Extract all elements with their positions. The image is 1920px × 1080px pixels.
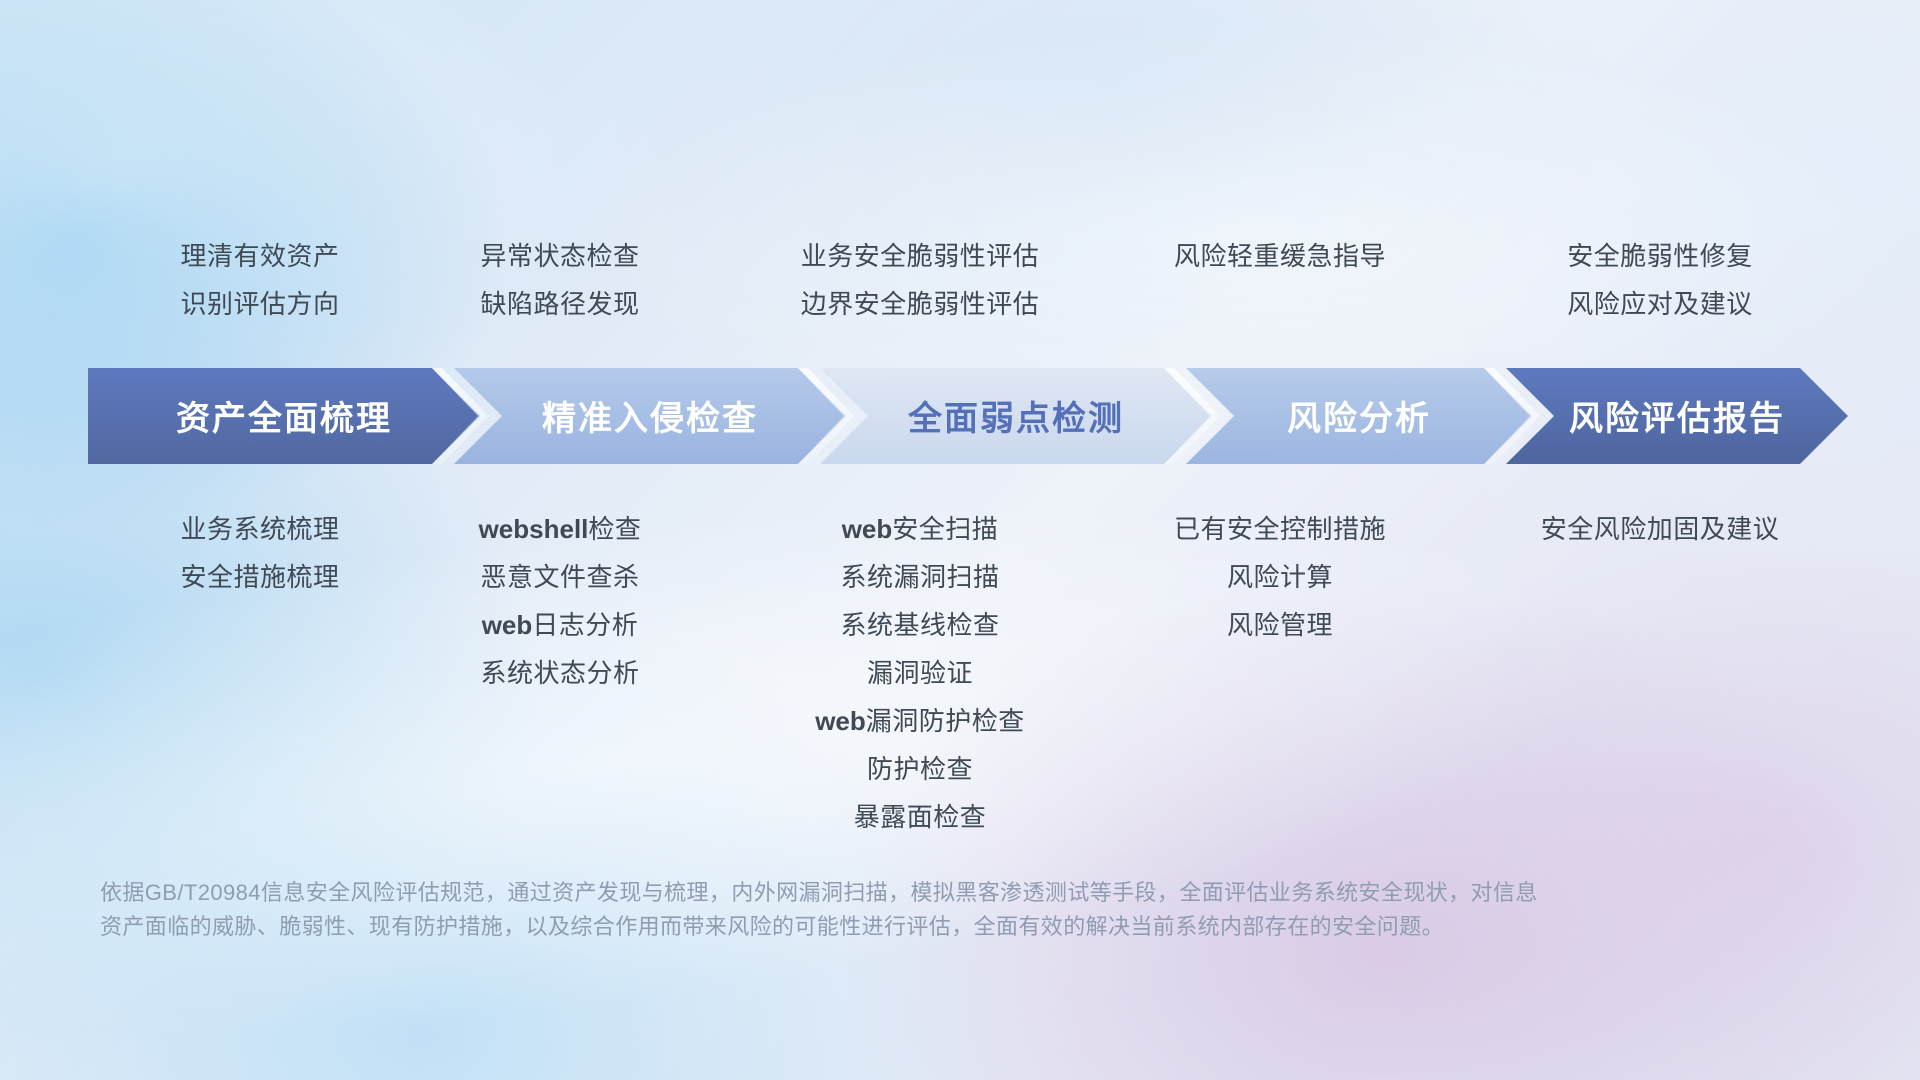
footer-line-2: 资产面临的威胁、脆弱性、现有防护措施，以及综合作用而带来风险的可能性进行评估，全… <box>100 910 1740 944</box>
slide-canvas: 理清有效资产 识别评估方向 异常状态检查 缺陷路径发现 业务安全脆弱性评估 边界… <box>0 0 1920 1080</box>
bottom-annotations-stage-3: 已有安全控制措施 风险计算 风险管理 <box>1060 505 1500 649</box>
bottom-annotation-item: 暴露面检查 <box>700 793 1140 841</box>
bottom-annotations-stage-4: 安全风险加固及建议 <box>1440 505 1880 553</box>
bottom-annotation-item: 风险管理 <box>1060 601 1500 649</box>
bottom-annotation-latin: web <box>842 514 893 544</box>
bottom-annotation-latin: web <box>482 610 533 640</box>
footer-description: 依据GB/T20984信息安全风险评估规范，通过资产发现与梳理，内外网漏洞扫描，… <box>100 876 1740 944</box>
bottom-annotation-cjk: 漏洞防护检查 <box>866 706 1025 736</box>
bottom-annotation-item: 风险计算 <box>1060 553 1500 601</box>
bottom-annotation-item: 漏洞验证 <box>700 649 1140 697</box>
bottom-annotation-item: web漏洞防护检查 <box>700 697 1140 745</box>
bottom-annotation-latin: webshell <box>479 514 589 544</box>
bottom-annotation-item: 安全风险加固及建议 <box>1440 505 1880 553</box>
bottom-annotation-cjk: 日志分析 <box>532 610 638 640</box>
bottom-annotation-latin: web <box>815 706 866 736</box>
bottom-annotation-cjk: 检查 <box>588 514 641 544</box>
bottom-annotation-cjk: 安全扫描 <box>892 514 998 544</box>
bottom-annotation-item: 防护检查 <box>700 745 1140 793</box>
footer-line-1: 依据GB/T20984信息安全风险评估规范，通过资产发现与梳理，内外网漏洞扫描，… <box>100 876 1740 910</box>
bottom-annotation-item: 已有安全控制措施 <box>1060 505 1500 553</box>
